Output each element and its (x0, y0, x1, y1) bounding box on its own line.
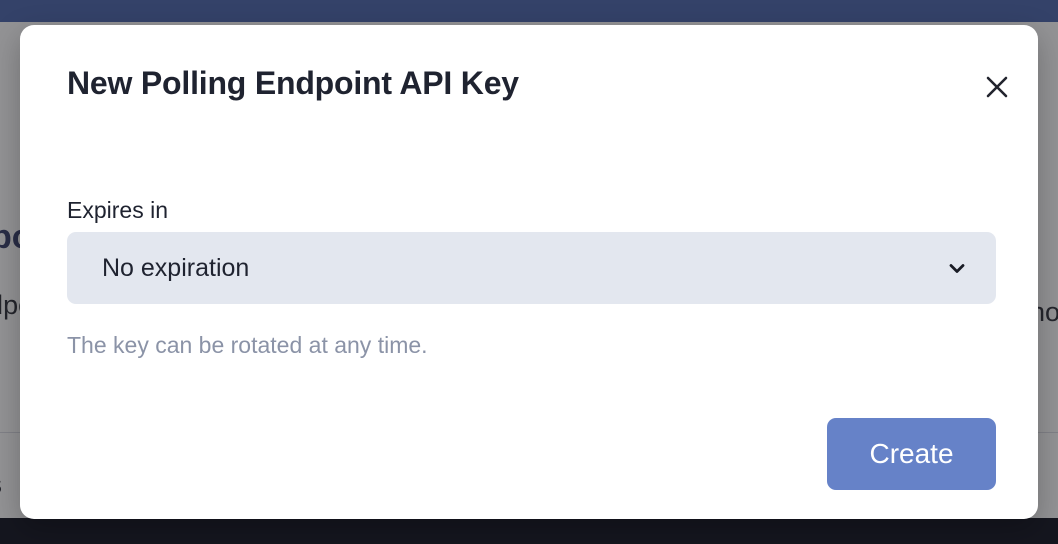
create-button[interactable]: Create (827, 418, 996, 490)
expires-in-field: No expiration (67, 232, 996, 304)
app-bottombar (0, 518, 1058, 544)
expires-in-select[interactable]: No expiration (67, 232, 996, 304)
app-topbar (0, 0, 1058, 22)
expires-in-label: Expires in (67, 197, 168, 224)
dialog-title: New Polling Endpoint API Key (67, 65, 519, 102)
new-api-key-dialog: New Polling Endpoint API Key Expires in … (20, 25, 1038, 519)
expires-in-helper-text: The key can be rotated at any time. (67, 332, 428, 359)
close-icon[interactable] (980, 70, 1014, 104)
